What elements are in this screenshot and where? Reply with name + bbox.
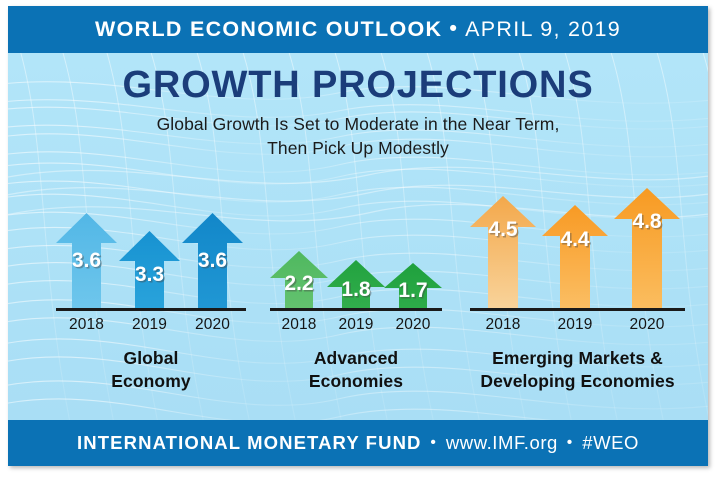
header-date: APRIL 9, 2019 — [465, 17, 621, 42]
footer-separator-dot-2: • — [558, 434, 582, 451]
header-separator-dot: • — [442, 16, 465, 41]
year-label-advanced-2018: 2018 — [270, 316, 328, 334]
arrow-set-emerging: 4.5 4.4 — [470, 186, 685, 308]
footer-hashtag[interactable]: #WEO — [582, 432, 639, 454]
arrow-advanced-2020: 1.7 — [384, 263, 442, 308]
year-label-emerging-2019: 2019 — [542, 316, 608, 334]
arrow-global-2019: 3.3 — [119, 231, 180, 308]
chart-group-emerging-markets: 4.5 4.4 — [470, 186, 685, 393]
group-name-emerging-line-1: Emerging Markets & — [470, 347, 685, 370]
footer-website-link[interactable]: www.IMF.org — [446, 432, 558, 454]
arrow-advanced-2019: 1.8 — [327, 260, 385, 308]
arrow-advanced-2018: 2.2 — [270, 251, 328, 308]
year-labels-global: 2018 2019 2020 — [56, 311, 246, 333]
year-label-global-2018: 2018 — [56, 316, 117, 334]
year-label-emerging-2020: 2020 — [614, 316, 680, 334]
group-name-global-line-1: Global — [56, 347, 246, 370]
arrow-emerging-2018: 4.5 — [470, 196, 536, 308]
arrow-global-2020: 3.6 — [182, 213, 243, 308]
group-name-advanced: Advanced Economies — [270, 347, 442, 393]
year-labels-advanced: 2018 2019 2020 — [270, 311, 442, 333]
year-label-global-2020: 2020 — [182, 316, 243, 334]
year-labels-emerging: 2018 2019 2020 — [470, 311, 685, 333]
group-name-global: Global Economy — [56, 347, 246, 393]
group-name-advanced-line-1: Advanced — [270, 347, 442, 370]
arrow-set-global: 3.6 3.3 — [56, 186, 246, 308]
group-name-emerging-line-2: Developing Economies — [470, 370, 685, 393]
footer-organization: INTERNATIONAL MONETARY FUND — [77, 432, 421, 454]
year-label-emerging-2018: 2018 — [470, 316, 536, 334]
footer-separator-dot-1: • — [422, 434, 446, 451]
chart-group-advanced-economies: 2.2 1.8 — [270, 186, 442, 393]
group-name-global-line-2: Economy — [56, 370, 246, 393]
arrow-set-advanced: 2.2 1.8 — [270, 186, 442, 308]
header-bar: WORLD ECONOMIC OUTLOOK • APRIL 9, 2019 — [8, 6, 708, 53]
group-name-advanced-line-2: Economies — [270, 370, 442, 393]
arrow-global-2018: 3.6 — [56, 213, 117, 308]
year-label-advanced-2020: 2020 — [384, 316, 442, 334]
footer-bar: INTERNATIONAL MONETARY FUND • www.IMF.or… — [8, 420, 708, 466]
group-name-emerging: Emerging Markets & Developing Economies — [470, 347, 685, 393]
year-label-global-2019: 2019 — [119, 316, 180, 334]
infographic-poster: WORLD ECONOMIC OUTLOOK • APRIL 9, 2019 G… — [8, 6, 708, 466]
arrow-emerging-2020: 4.8 — [614, 188, 680, 308]
year-label-advanced-2019: 2019 — [327, 316, 385, 334]
arrow-emerging-2019: 4.4 — [542, 205, 608, 308]
header-title: WORLD ECONOMIC OUTLOOK — [95, 17, 442, 42]
chart-group-global-economy: 3.6 3.3 — [56, 186, 246, 393]
